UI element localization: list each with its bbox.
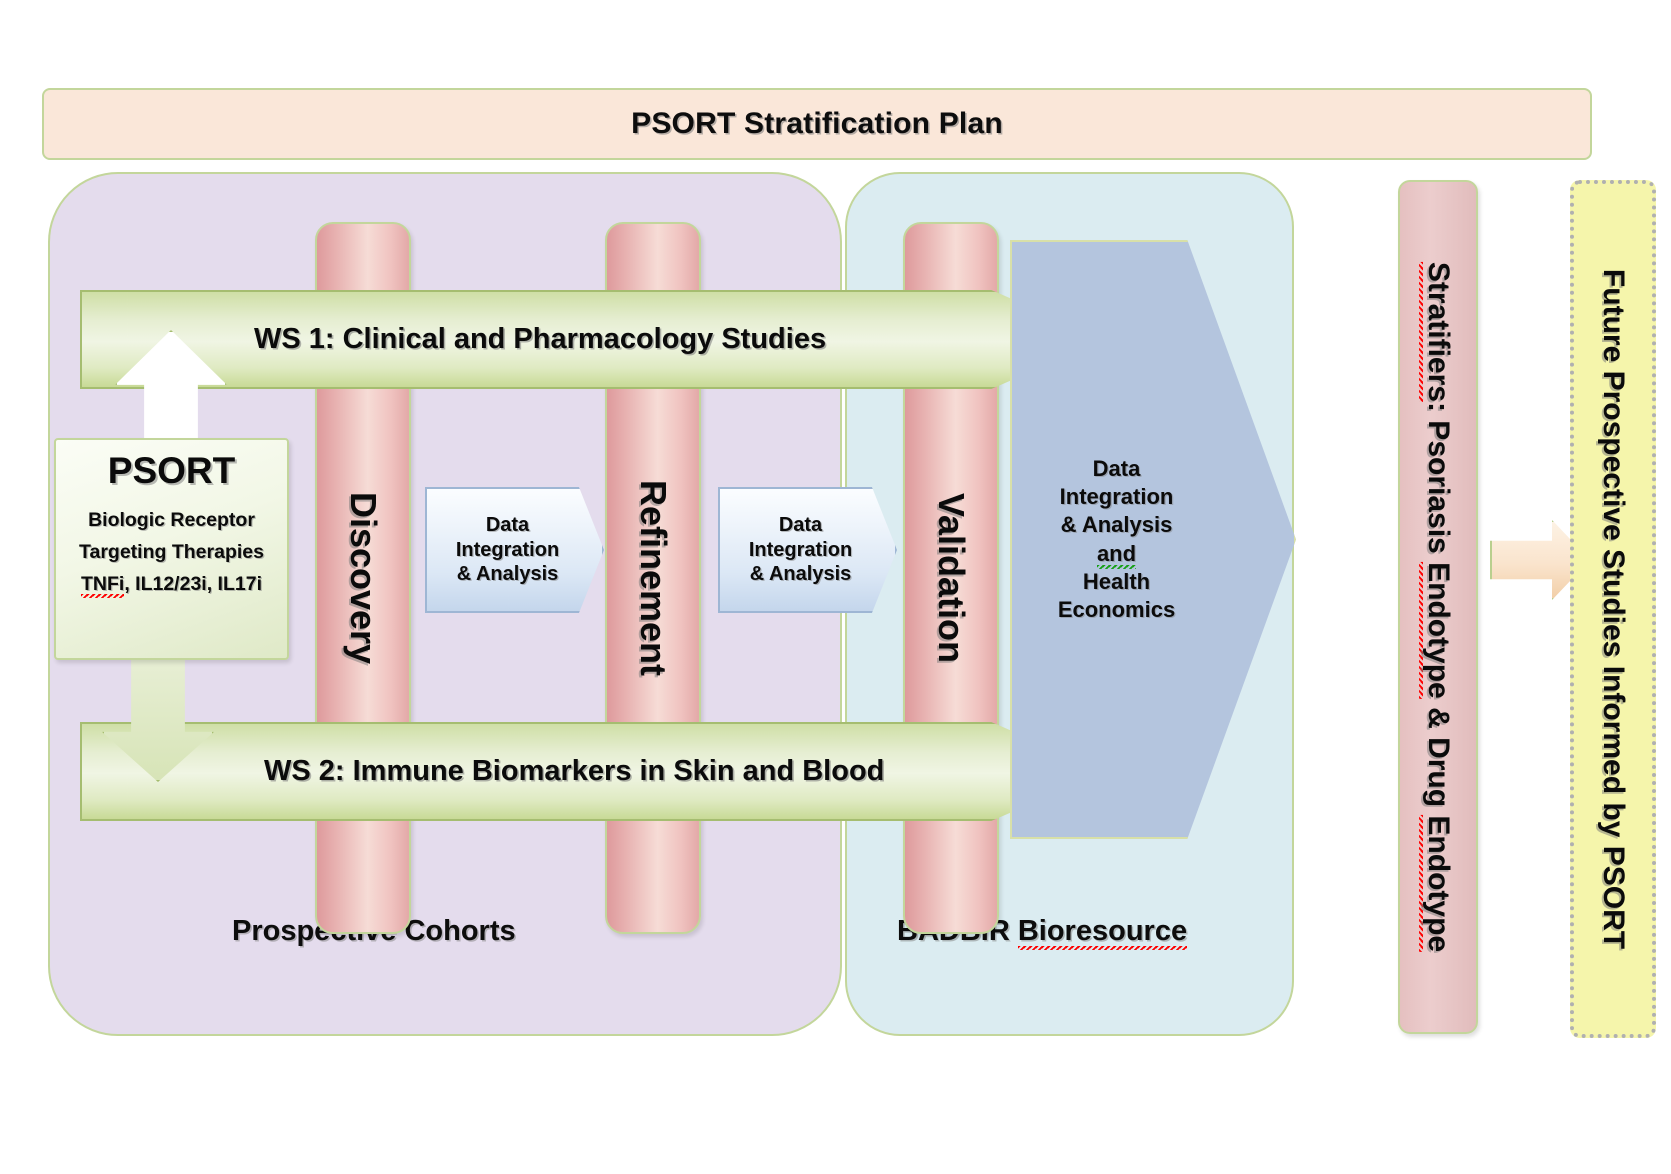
stratifiers-part-5: Endotype	[1419, 815, 1455, 952]
chev-1-line-3: & Analysis	[457, 563, 559, 585]
blue-arrow-line-3: & Analysis	[1061, 512, 1173, 537]
stratifiers-label: Stratifiers: Psoriasis Endotype & Drug E…	[1421, 262, 1455, 952]
psort-box-line-2: Targeting Therapies	[79, 541, 264, 564]
stratifiers-part-2: : Psoriasis	[1422, 402, 1455, 562]
psort-box-title: PSORT	[108, 450, 235, 492]
psort-box-line-1: Biologic Receptor	[88, 509, 255, 532]
psort-box-line-3: TNFi, IL12/23i, IL17i	[81, 573, 262, 596]
chev-2-line-1: Data	[779, 514, 822, 536]
chev-1-line-1: Data	[486, 514, 529, 536]
pillar-discovery-label: Discovery	[342, 492, 384, 664]
blue-arrow-line-5: Health	[1083, 569, 1150, 594]
data-integration-chevron-2: Data Integration & Analysis	[718, 487, 897, 613]
page-title: PSORT Stratification Plan	[631, 107, 1003, 141]
psort-box: PSORT Biologic Receptor Targeting Therap…	[54, 438, 289, 660]
blue-arrow-line-1: Data	[1093, 456, 1141, 481]
blue-arrow-line-6: Economics	[1058, 597, 1175, 622]
workstream-1-label: WS 1: Clinical and Pharmacology Studies	[254, 323, 826, 356]
stratifiers-part-1: Stratifiers	[1419, 262, 1455, 402]
data-integration-chevron-2-text: Data Integration & Analysis	[749, 513, 852, 586]
workstream-2-label: WS 2: Immune Biomarkers in Skin and Bloo…	[264, 755, 884, 788]
blue-arrow-line-2: Integration	[1060, 484, 1174, 509]
workstream-2-arrow: WS 2: Immune Biomarkers in Skin and Bloo…	[80, 722, 1104, 821]
chev-2-line-2: Integration	[749, 539, 852, 561]
blue-arrow-text: Data Integration & Analysis and Health E…	[1024, 455, 1209, 624]
chev-1-line-2: Integration	[456, 539, 559, 561]
pillar-refinement-label: Refinement	[632, 480, 674, 676]
pillar-validation-label: Validation	[930, 493, 972, 663]
data-integration-chevron-1-text: Data Integration & Analysis	[456, 513, 559, 586]
workstream-1-arrow: WS 1: Clinical and Pharmacology Studies	[80, 290, 1104, 389]
future-prospective-studies-panel: Future Prospective Studies Informed by P…	[1570, 180, 1656, 1038]
chev-2-line-3: & Analysis	[750, 563, 852, 585]
badbir-caption-misspelled: Bioresource	[1018, 915, 1187, 950]
title-banner: PSORT Stratification Plan	[42, 88, 1592, 160]
stratifiers-part-4: & Drug	[1422, 699, 1455, 816]
future-prospective-studies-label: Future Prospective Studies Informed by P…	[1596, 269, 1630, 949]
stratifiers-part-3: Endotype	[1419, 562, 1455, 699]
data-integration-chevron-1: Data Integration & Analysis	[425, 487, 604, 613]
psort-box-line-3-rest: , IL12/23i, IL17i	[124, 573, 262, 595]
blue-arrow-line-4: and	[1097, 541, 1136, 569]
stratifiers-bar: Stratifiers: Psoriasis Endotype & Drug E…	[1398, 180, 1478, 1034]
psort-box-line-3-misspelled: TNFi	[81, 573, 124, 598]
